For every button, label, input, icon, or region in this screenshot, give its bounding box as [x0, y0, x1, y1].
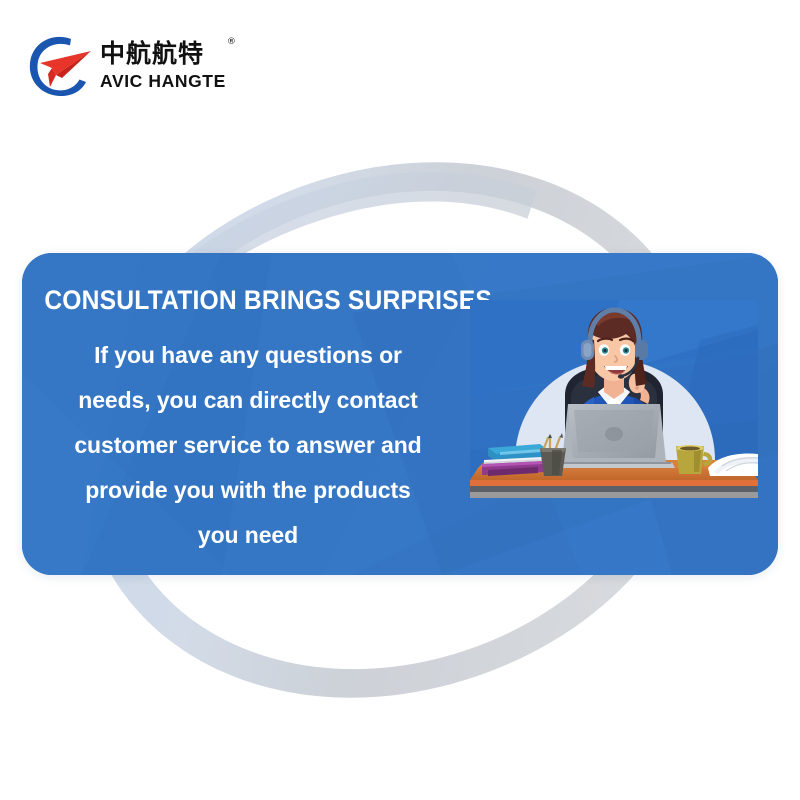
- avic-logo-mark-icon: [22, 30, 96, 100]
- brand-name-cn: 中航航特: [100, 39, 204, 68]
- brand-lockup-text: 中航航特 ® AVIC HANGTE: [100, 39, 226, 90]
- body-line-1: If you have any questions or: [48, 333, 448, 378]
- customer-service-illustration: [470, 300, 758, 498]
- body-line-4: provide you with the products: [48, 468, 448, 513]
- body-line-5: you need: [48, 513, 448, 558]
- banner-canvas: 中航航特 ® AVIC HANGTE CONSULTATION BRINGS S…: [0, 0, 800, 800]
- brand-name-cn-wrap: 中航航特 ®: [100, 41, 226, 67]
- card-body-text: If you have any questions or needs, you …: [22, 333, 474, 558]
- body-line-3: customer service to answer and: [48, 423, 448, 468]
- brand-logo[interactable]: 中航航特 ® AVIC HANGTE: [22, 28, 237, 102]
- brand-name-en: AVIC HANGTE: [100, 71, 226, 91]
- card-text-block: CONSULTATION BRINGS SURPRISES If you hav…: [22, 253, 474, 575]
- registered-trademark-icon: ®: [227, 38, 237, 47]
- card-headline: CONSULTATION BRINGS SURPRISES: [22, 287, 442, 314]
- body-line-2: needs, you can directly contact: [48, 378, 448, 423]
